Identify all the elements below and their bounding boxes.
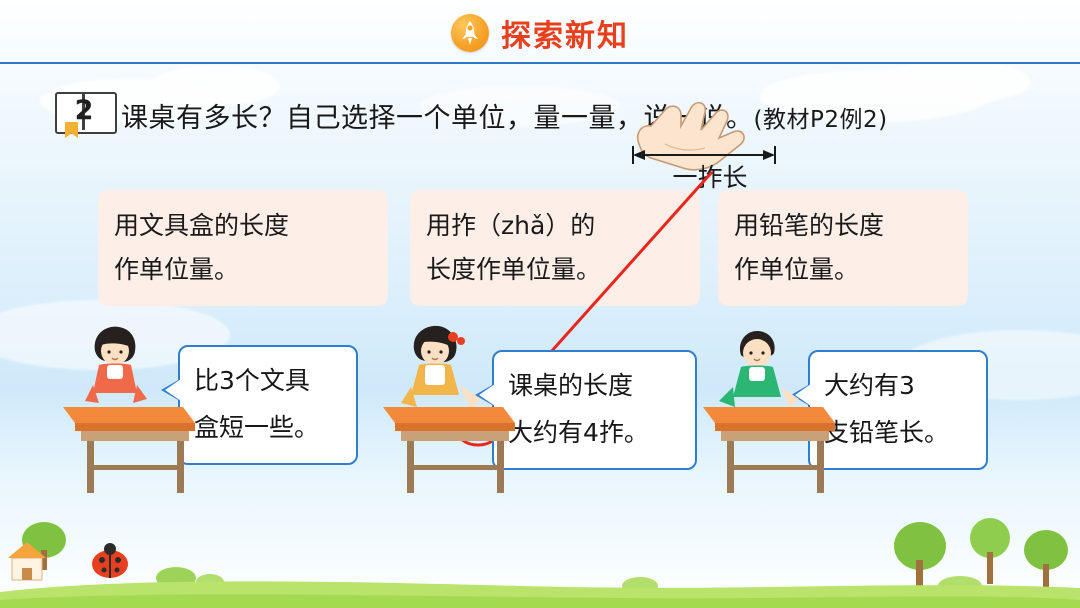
header-inner: 探索新知 — [451, 11, 629, 55]
school-desk — [703, 407, 835, 493]
question-number: 2 — [55, 94, 113, 128]
girl-bow-student — [401, 326, 481, 409]
school-desk — [63, 407, 195, 493]
rocket-icon — [451, 14, 489, 52]
student-desk-scene-1 — [55, 315, 235, 510]
ground-scenery — [0, 516, 1080, 608]
method-box-3-line1: 用铅笔的长度 — [734, 204, 952, 248]
tree-icon — [1024, 530, 1068, 588]
slide-header: 探索新知 — [0, 0, 1080, 64]
method-box-1-line2: 作单位量。 — [114, 248, 372, 292]
page-title: 探索新知 — [501, 11, 629, 55]
open-book-icon: 2 — [55, 92, 113, 138]
method-box-3: 用铅笔的长度 作单位量。 — [718, 190, 968, 306]
boy-student — [719, 331, 799, 407]
ladybug-icon — [92, 543, 128, 578]
girl-pigtails-student — [85, 327, 147, 403]
book-ribbon — [65, 122, 78, 138]
tree-icon — [894, 522, 946, 586]
method-box-1: 用文具盒的长度 作单位量。 — [98, 190, 388, 306]
method-box-2-line1: 用拃（zhǎ）的 — [426, 204, 684, 248]
method-box-2: 用拃（zhǎ）的 长度作单位量。 — [410, 190, 700, 306]
method-box-2-line2: 长度作单位量。 — [426, 248, 684, 292]
cloud-decoration — [880, 60, 1030, 104]
slide-root: 探索新知 2 课桌有多长？自己选择一个单位，量一量，说一说。(教材P2例2) — [0, 0, 1080, 608]
method-box-1-line1: 用文具盒的长度 — [114, 204, 372, 248]
method-box-3-line2: 作单位量。 — [734, 248, 952, 292]
student-desk-scene-3 — [695, 315, 875, 510]
span-label: 一拃长 — [640, 158, 780, 194]
student-desk-scene-2 — [375, 315, 555, 510]
school-desk — [383, 407, 515, 493]
tree-icon — [970, 518, 1010, 584]
